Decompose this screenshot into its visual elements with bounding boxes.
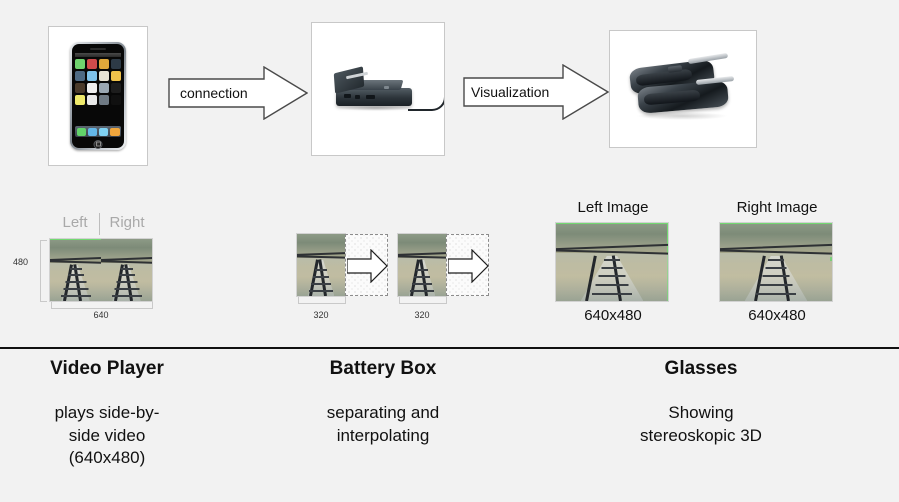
connection-arrow: connection <box>168 66 308 120</box>
iphone-illustration <box>70 42 126 150</box>
arrow-right-icon <box>448 249 489 283</box>
battery-box-caption-title: Battery Box <box>280 358 486 380</box>
video-glasses-photo <box>609 30 757 148</box>
source-height-label: 480 <box>13 257 28 267</box>
section-divider <box>0 347 899 349</box>
iphone-photo <box>48 26 148 166</box>
split-left-width-brace <box>298 297 346 304</box>
source-split-divider <box>99 213 100 235</box>
split-right-thumbnail <box>398 234 446 296</box>
right-image-title: Right Image <box>712 199 842 216</box>
video-player-caption-line: (640x480) <box>2 447 212 470</box>
battery-box-caption-line: separating and <box>280 402 486 425</box>
source-right-label: Right <box>101 214 153 231</box>
diagram-canvas: connection Visualization <box>0 0 899 502</box>
visualization-arrow-label: Visualization <box>471 84 549 100</box>
glasses-caption-line: stereoskopic 3D <box>598 425 804 448</box>
left-output-thumbnail <box>556 223 668 301</box>
video-player-caption-line: plays side-by- <box>2 402 212 425</box>
video-player-caption-line: side video <box>2 425 212 448</box>
left-image-title: Left Image <box>548 199 678 216</box>
video-player-caption: Video Player plays side-by- side video (… <box>2 358 212 470</box>
split-left-width-label: 320 <box>297 310 345 320</box>
right-image-dimensions: 640x480 <box>712 307 842 324</box>
glasses-illustration <box>624 52 742 126</box>
source-width-brace <box>51 302 153 309</box>
split-left-thumbnail <box>297 234 345 296</box>
left-image-dimensions: 640x480 <box>548 307 678 324</box>
source-side-by-side-frame <box>50 239 152 301</box>
visualization-arrow: Visualization <box>463 64 609 120</box>
split-right-width-label: 320 <box>398 310 446 320</box>
source-left-thumbnail <box>50 239 101 301</box>
connection-arrow-label: connection <box>180 85 248 101</box>
video-player-caption-title: Video Player <box>2 358 212 380</box>
source-right-thumbnail <box>101 239 152 301</box>
battery-box-caption-line: interpolating <box>280 425 486 448</box>
glasses-caption-line: Showing <box>598 402 804 425</box>
split-right-width-brace <box>399 297 447 304</box>
glasses-caption: Glasses Showing stereoskopic 3D <box>598 358 804 447</box>
arrow-right-icon <box>347 249 388 283</box>
source-width-label: 640 <box>50 310 152 320</box>
battery-box-caption: Battery Box separating and interpolating <box>280 358 486 447</box>
battery-box-photo <box>311 22 445 156</box>
right-output-thumbnail <box>720 223 832 301</box>
source-left-label: Left <box>50 214 100 231</box>
glasses-caption-title: Glasses <box>598 358 804 380</box>
source-height-brace <box>40 240 47 302</box>
split-right-interpolation-panel <box>446 234 489 296</box>
split-left-interpolation-panel <box>345 234 388 296</box>
battery-box-illustration <box>322 62 434 122</box>
